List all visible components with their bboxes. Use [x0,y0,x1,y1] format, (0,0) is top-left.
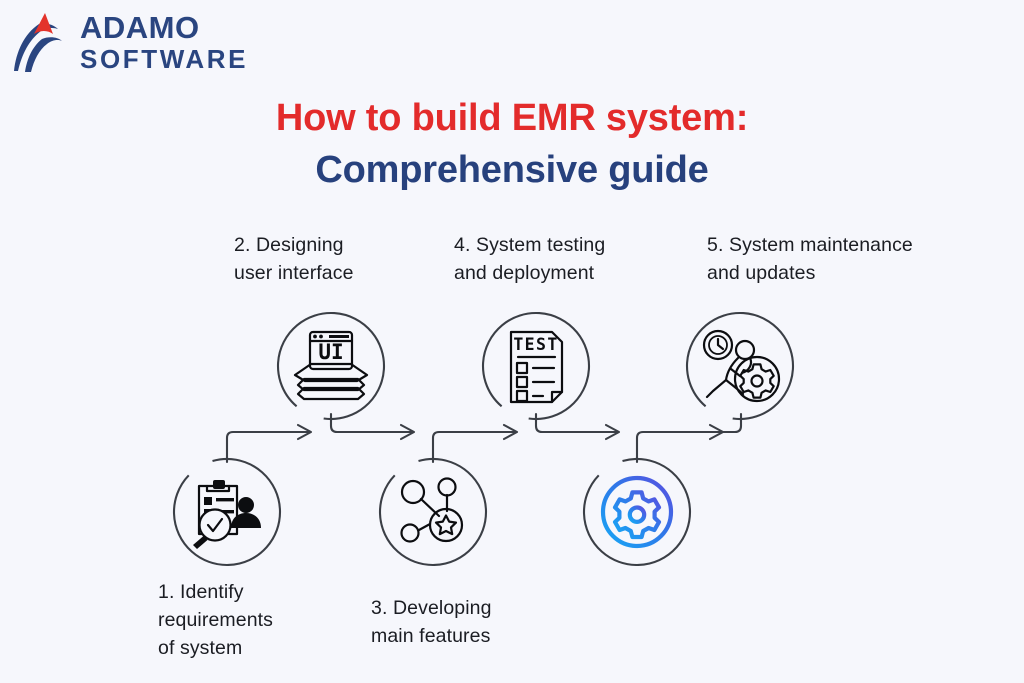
network-nodes-star-icon [402,479,463,542]
connector-1-to-2 [227,425,311,462]
ui-browser-window-icon: UI [295,332,367,399]
gear-settings-icon [603,478,671,546]
test-icon-label: TEST [513,335,558,354]
test-checklist-document-icon: TEST [511,332,562,402]
ui-icon-label: UI [318,340,343,364]
clipboard-magnifier-person-icon [193,480,261,549]
infographic-canvas: ADAMO SOFTWARE How to build EMR system: … [0,0,1024,683]
connector-2-to-3 [433,425,517,462]
person-pushing-gear-clock-icon [704,331,779,401]
node-circle-accent-gear[interactable] [569,444,705,580]
connector-4-to-accent [637,425,723,462]
connector-to-node5 [723,414,741,432]
process-flow-diagram: UI TEST [0,0,1024,683]
node-circle-2[interactable] [264,299,398,433]
node-circle-3[interactable] [365,444,501,580]
node-circle-4[interactable] [469,299,603,433]
